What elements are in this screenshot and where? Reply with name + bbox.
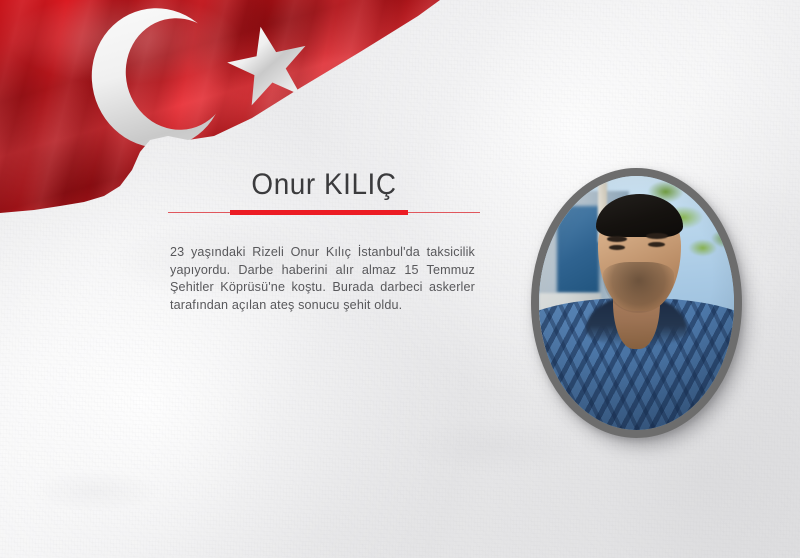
memorial-page: Onur KILIÇ 23 yaşındaki Rizeli Onur Kılı…: [0, 0, 800, 558]
portrait-image: [539, 176, 734, 430]
biography-text: 23 yaşındaki Rizeli Onur Kılıç İstanbul'…: [170, 244, 475, 314]
portrait-frame: [531, 168, 742, 438]
photo-vignette: [539, 176, 734, 430]
title-block: Onur KILIÇ: [168, 168, 480, 216]
title-divider: [168, 210, 480, 216]
portrait-photo: [539, 176, 734, 430]
divider-thick-bar: [230, 210, 408, 215]
page-title: Onur KILIÇ: [179, 168, 469, 201]
